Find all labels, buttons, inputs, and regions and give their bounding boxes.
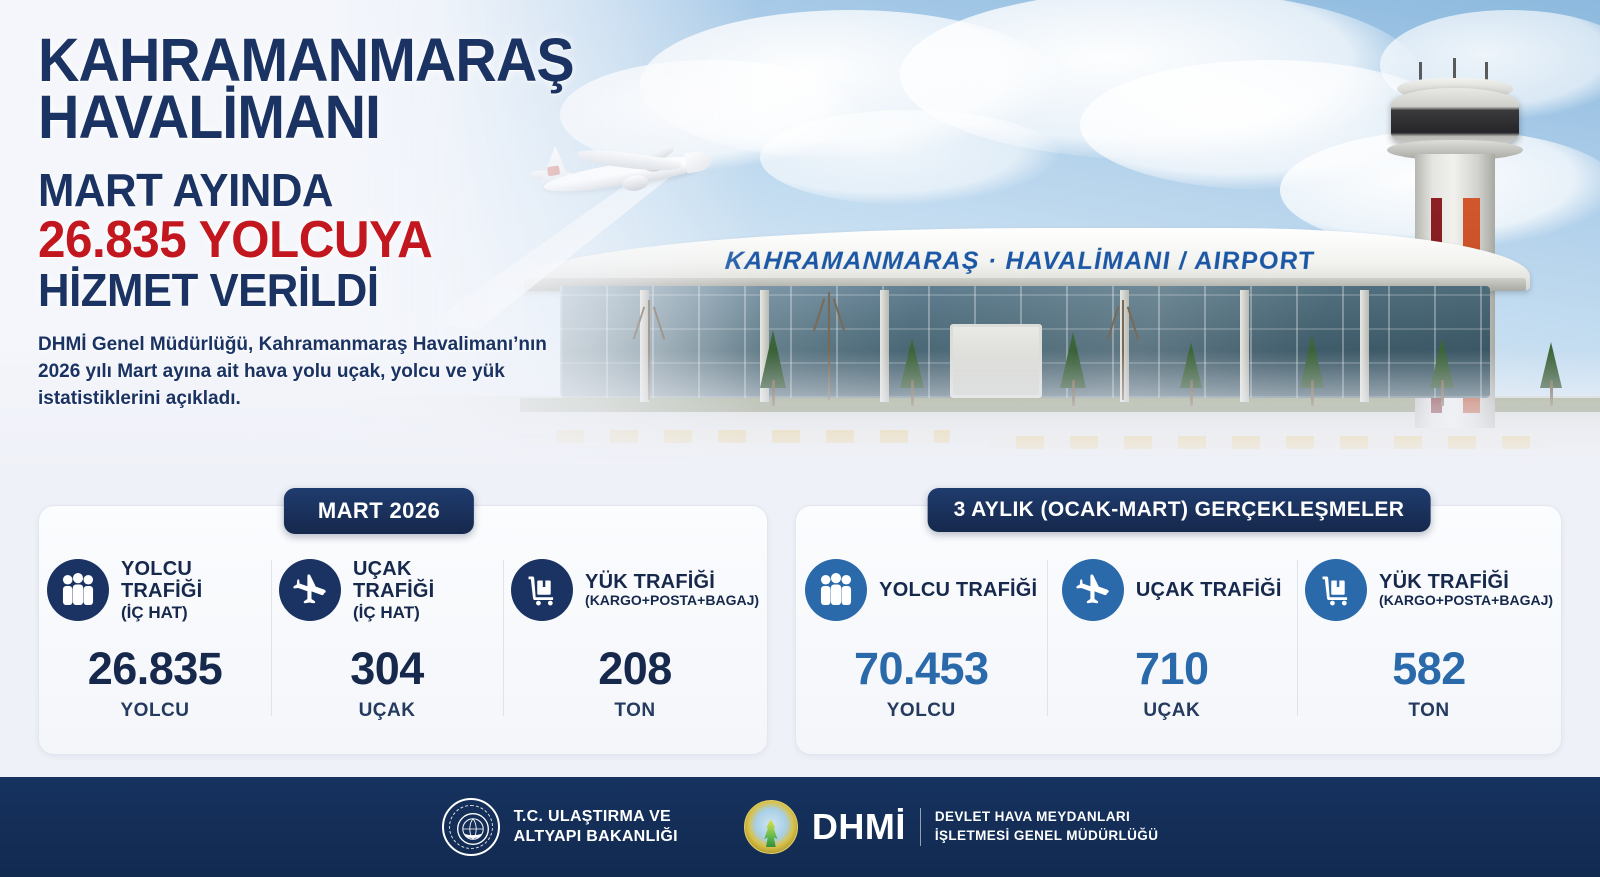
stat-value: 208	[511, 646, 759, 691]
stat-cell-passenger-monthly: YOLCU TRAFİĞİ (İÇ HAT) 26.835 YOLCU	[39, 554, 271, 722]
subtitle-line-3: HİZMET VERİLDİ	[38, 267, 608, 314]
stat-cell-cargo-quarterly: YÜK TRAFİĞİ (KARGO+POSTA+BAGAJ) 582 TON	[1297, 554, 1561, 722]
stat-value: 70.453	[804, 646, 1039, 691]
footer-bar: T.C. ULAŞTIRMA VE ALTYAPI BAKANLIĞI DHMİ…	[0, 777, 1600, 877]
stat-label: YÜK TRAFİĞİ (KARGO+POSTA+BAGAJ)	[1379, 571, 1553, 609]
stat-value: 710	[1055, 646, 1290, 691]
stat-unit: TON	[511, 700, 759, 722]
stat-cell-aircraft-quarterly: UÇAK TRAFİĞİ 710 UÇAK	[1047, 554, 1298, 722]
stat-cell-passenger-quarterly: YOLCU TRAFİĞİ 70.453 YOLCU	[796, 554, 1047, 722]
quarterly-panel-header: 3 AYLIK (OCAK-MART) GERÇEKLEŞMELER	[928, 488, 1431, 532]
infographic-page: KAHRAMANMARAŞ · HAVALİMANI / AIRPORT	[0, 0, 1600, 877]
dhmi-wordmark: DHMİ	[812, 806, 906, 848]
people-icon	[805, 559, 867, 621]
terminal-sign-text: KAHRAMANMARAŞ · HAVALİMANI / AIRPORT	[708, 244, 1332, 278]
stat-unit: YOLCU	[804, 700, 1039, 722]
dhmi-full-name: DEVLET HAVA MEYDANLARI İŞLETMESİ GENEL M…	[935, 808, 1159, 846]
ministry-seal-icon	[442, 798, 500, 856]
cargo-trolley-icon	[511, 559, 573, 621]
page-title: KAHRAMANMARAŞ HAVALİMANI	[38, 32, 602, 145]
stat-cell-cargo-monthly: YÜK TRAFİĞİ (KARGO+POSTA+BAGAJ) 208 TON	[503, 554, 767, 722]
dhmi-emblem-icon	[744, 800, 798, 854]
stat-label: UÇAK TRAFİĞİ (İÇ HAT)	[353, 558, 495, 622]
stat-label: YOLCU TRAFİĞİ (İÇ HAT)	[121, 558, 263, 622]
stat-label: UÇAK TRAFİĞİ	[1136, 579, 1282, 601]
stat-value: 304	[279, 646, 495, 691]
title-line-1: KAHRAMANMARAŞ	[38, 32, 602, 89]
stat-label: YÜK TRAFİĞİ (KARGO+POSTA+BAGAJ)	[585, 571, 759, 609]
headline-block: KAHRAMANMARAŞ HAVALİMANI MART AYINDA 26.…	[38, 32, 638, 413]
stat-unit: YOLCU	[47, 700, 263, 722]
stat-unit: TON	[1305, 700, 1553, 722]
cloud	[760, 110, 1060, 205]
subtitle-line-1: MART AYINDA	[38, 167, 608, 214]
stat-value: 582	[1305, 646, 1553, 691]
airplane-icon	[279, 559, 341, 621]
monthly-stats-panel: MART 2026 YOLCU TRAFİĞİ	[38, 505, 768, 755]
monthly-stat-cells: YOLCU TRAFİĞİ (İÇ HAT) 26.835 YOLCU	[39, 554, 767, 722]
monthly-panel-header: MART 2026	[284, 488, 474, 534]
quarterly-stats-panel: 3 AYLIK (OCAK-MART) GERÇEKLEŞMELER YOL	[795, 505, 1562, 755]
title-line-2: HAVALİMANI	[38, 89, 602, 146]
cargo-trolley-icon	[1305, 559, 1367, 621]
stat-unit: UÇAK	[279, 700, 495, 722]
headline-body-text: DHMİ Genel Müdürlüğü, Kahramanmaraş Hava…	[38, 332, 558, 413]
people-icon	[47, 559, 109, 621]
stat-cell-aircraft-monthly: UÇAK TRAFİĞİ (İÇ HAT) 304 UÇAK	[271, 554, 503, 722]
airplane-icon	[1062, 559, 1124, 621]
quarterly-stat-cells: YOLCU TRAFİĞİ 70.453 YOLCU	[796, 554, 1561, 722]
stat-label: YOLCU TRAFİĞİ	[879, 579, 1037, 601]
stat-value: 26.835	[47, 646, 263, 691]
statistics-panels: MART 2026 YOLCU TRAFİĞİ	[0, 495, 1600, 760]
ministry-logo-block: T.C. ULAŞTIRMA VE ALTYAPI BAKANLIĞI	[442, 798, 678, 856]
passenger-count-highlight: 26.835 YOLCUYA	[38, 214, 608, 267]
divider	[920, 808, 921, 846]
ministry-name: T.C. ULAŞTIRMA VE ALTYAPI BAKANLIĞI	[514, 807, 678, 847]
dhmi-logo-block: DHMİ DEVLET HAVA MEYDANLARI İŞLETMESİ GE…	[744, 800, 1159, 854]
headline-subtitle: MART AYINDA 26.835 YOLCUYA HİZMET VERİLD…	[38, 167, 608, 314]
stat-unit: UÇAK	[1055, 700, 1290, 722]
